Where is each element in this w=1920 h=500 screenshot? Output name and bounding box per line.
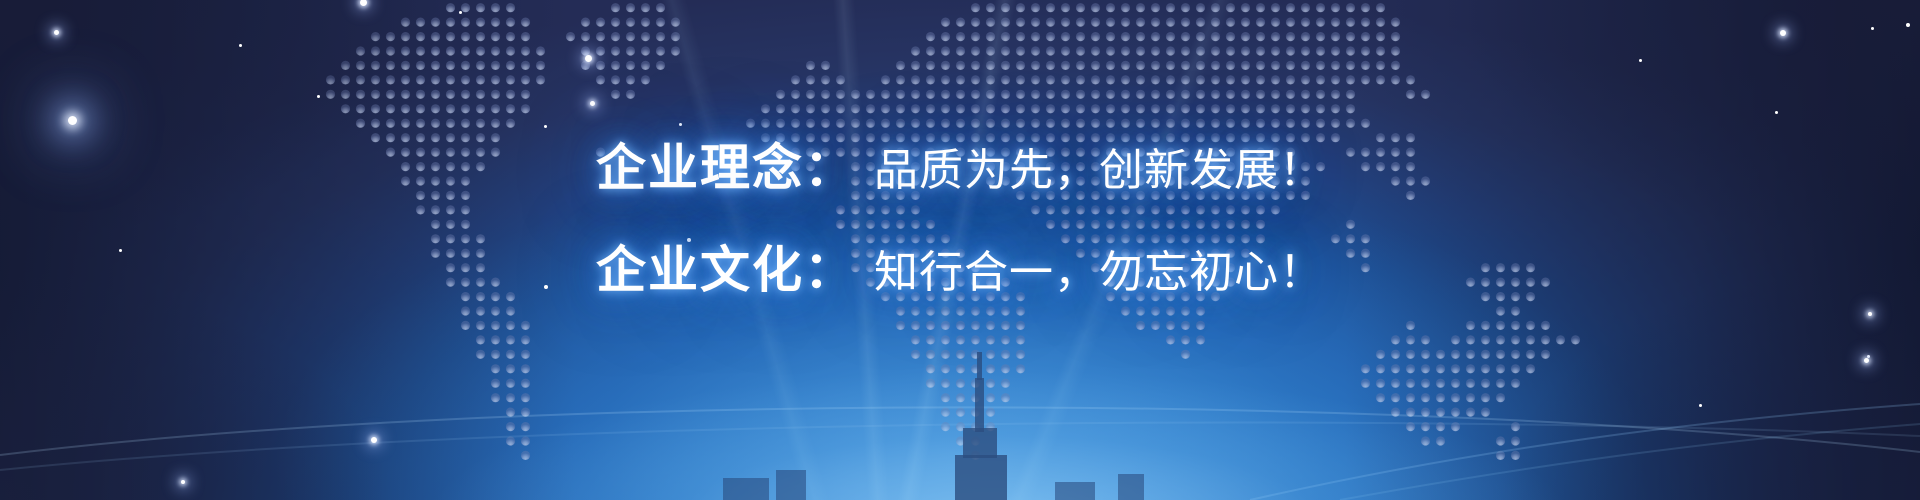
star-icon (181, 480, 185, 484)
star-icon (239, 44, 242, 47)
banner-root: 企业理念：品质为先，创新发展！ 企业文化：知行合一，勿忘初心！ (0, 0, 1920, 500)
slogan-label-culture: 企业文化： (596, 241, 856, 299)
star-icon (1906, 23, 1910, 27)
slogan-label-philosophy: 企业理念： (596, 139, 856, 197)
slogan-line-philosophy: 企业理念：品质为先，创新发展！ (0, 120, 1920, 216)
star-icon (1867, 355, 1870, 358)
slogan-line-culture: 企业文化：知行合一，勿忘初心！ (0, 222, 1920, 318)
slogan-phrase-philosophy: 品质为先，创新发展！ (874, 145, 1324, 196)
star-icon (1871, 27, 1874, 30)
star-icon (54, 30, 59, 35)
slogan-block: 企业理念：品质为先，创新发展！ 企业文化：知行合一，勿忘初心！ (0, 120, 1920, 318)
slogan-phrase-culture: 知行合一，勿忘初心！ (874, 247, 1324, 298)
star-icon (1864, 358, 1869, 363)
